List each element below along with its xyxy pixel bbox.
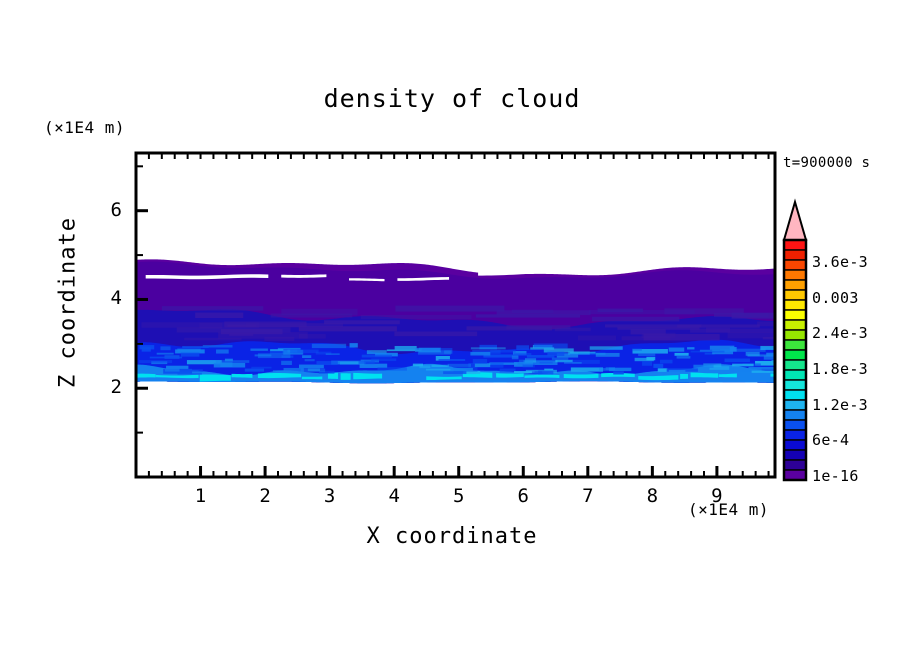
colorbar-tick-label: 2.4e-3 [812, 324, 868, 342]
x-tick-label: 3 [315, 485, 345, 507]
x-tick-label: 2 [250, 485, 280, 507]
colorbar-swatch [784, 460, 806, 470]
colorbar[interactable] [0, 0, 904, 654]
colorbar-swatch [784, 300, 806, 310]
colorbar-swatch [784, 290, 806, 300]
colorbar-swatch [784, 250, 806, 260]
colorbar-swatch [784, 260, 806, 270]
colorbar-swatch [784, 280, 806, 290]
colorbar-tick-label: 1e-16 [812, 467, 859, 485]
colorbar-tick-label: 1.8e-3 [812, 360, 868, 378]
colorbar-tick-label: 0.003 [812, 289, 859, 307]
x-tick-label: 7 [573, 485, 603, 507]
colorbar-swatch [784, 320, 806, 330]
colorbar-tick-label: 6e-4 [812, 431, 849, 449]
colorbar-swatch [784, 430, 806, 440]
y-tick-label: 2 [92, 376, 122, 398]
x-tick-label: 8 [637, 485, 667, 507]
x-tick-label: 4 [379, 485, 409, 507]
x-tick-label: 9 [702, 485, 732, 507]
y-tick-label: 4 [92, 287, 122, 309]
colorbar-swatch [784, 370, 806, 380]
colorbar-tick-label: 1.2e-3 [812, 396, 868, 414]
x-tick-label: 1 [186, 485, 216, 507]
x-tick-label: 5 [444, 485, 474, 507]
colorbar-swatch [784, 390, 806, 400]
colorbar-swatch [784, 240, 806, 250]
x-tick-label: 6 [508, 485, 538, 507]
colorbar-swatch [784, 440, 806, 450]
colorbar-swatch [784, 420, 806, 430]
colorbar-swatch [784, 330, 806, 340]
colorbar-swatch [784, 450, 806, 460]
colorbar-swatch [784, 470, 806, 480]
figure-canvas: density of cloud (×1E4 m) (×1E4 m) t=900… [0, 0, 904, 654]
colorbar-swatch [784, 400, 806, 410]
colorbar-swatch [784, 310, 806, 320]
colorbar-tick-label: 3.6e-3 [812, 253, 868, 271]
colorbar-swatch [784, 410, 806, 420]
colorbar-swatch [784, 270, 806, 280]
colorbar-swatch [784, 360, 806, 370]
colorbar-swatch [784, 340, 806, 350]
colorbar-arrowhead [784, 202, 806, 240]
y-tick-label: 6 [92, 199, 122, 221]
colorbar-swatch [784, 350, 806, 360]
colorbar-swatch [784, 380, 806, 390]
